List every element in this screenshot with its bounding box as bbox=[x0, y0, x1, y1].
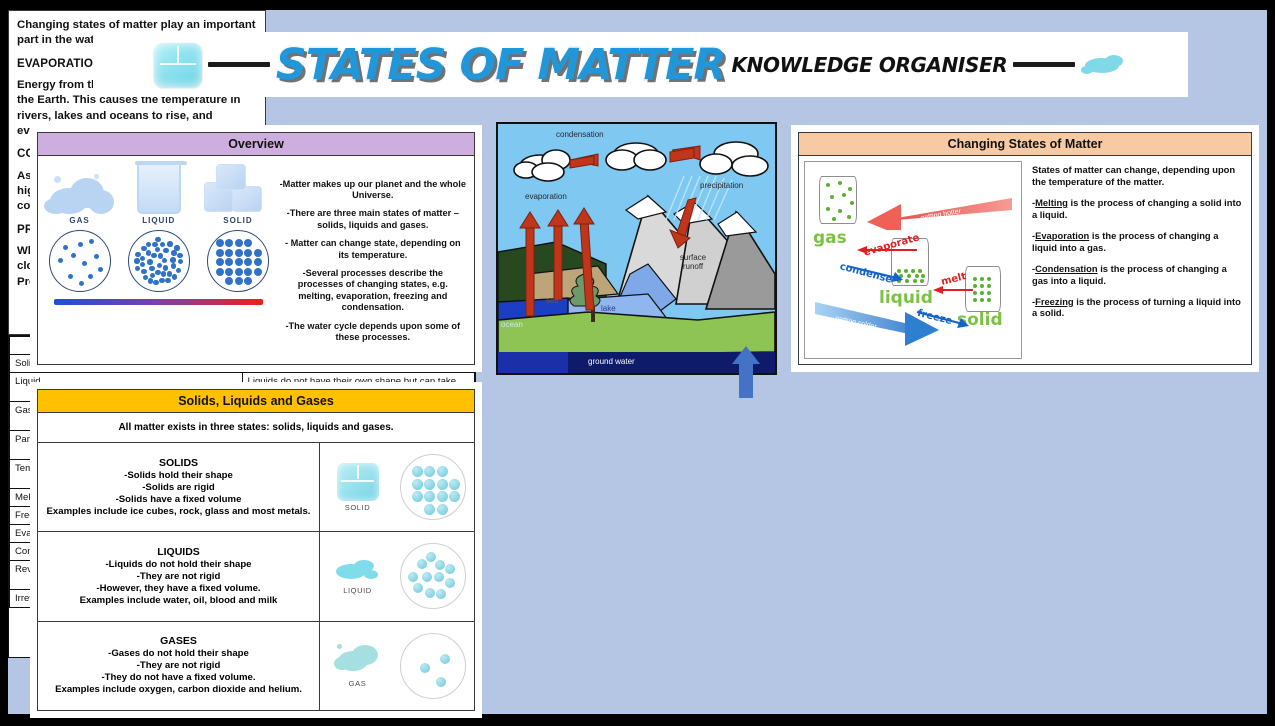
changing-states-header: Changing States of Matter bbox=[799, 133, 1251, 156]
slg-icon-label-solid: SOLID bbox=[345, 503, 371, 512]
slg-line: -Gases do not hold their shape bbox=[108, 648, 249, 660]
slg-line: -Liquids do not hold their shape bbox=[105, 559, 251, 571]
slg-line: -Solids hold their shape bbox=[124, 470, 233, 482]
water-puddle-small-icon bbox=[334, 558, 382, 584]
slg-icons-liquids: LIQUID bbox=[320, 532, 474, 620]
state-label-liquid: LIQUID bbox=[142, 216, 175, 225]
slg-line: -Solids are rigid bbox=[142, 482, 215, 494]
changing-states-diagram: gas liquid solid bbox=[804, 161, 1022, 359]
particle-circle-gas-small bbox=[400, 633, 466, 699]
slg-row-solids: SOLIDS -Solids hold their shape -Solids … bbox=[38, 443, 474, 532]
wc-label-lake: lake bbox=[601, 304, 616, 313]
particles-liquid bbox=[120, 230, 198, 292]
slg-line: -They are not rigid bbox=[137, 571, 221, 583]
cs-paragraph-4: -Condensation is the process of changing… bbox=[1032, 263, 1244, 287]
overview-panel: Overview GAS LIQUID bbox=[30, 125, 482, 372]
slg-icons-gases: GAS bbox=[320, 622, 474, 710]
slg-icon-solid: SOLID bbox=[329, 463, 387, 512]
overview-bullet-4: -Several processes describe the processe… bbox=[280, 268, 466, 314]
state-label-solid: SOLID bbox=[223, 216, 252, 225]
wc-label-evaporation: evaporation bbox=[525, 192, 567, 201]
slg-intro: All matter exists in three states: solid… bbox=[38, 413, 474, 443]
ice-cubes-icon bbox=[202, 164, 274, 214]
wc-label-soil: soil bbox=[546, 296, 558, 305]
beaker-icon bbox=[137, 164, 181, 214]
particle-circle-liquid bbox=[128, 230, 190, 292]
water-cycle-diagram: condensation precipitation evaporation s… bbox=[496, 122, 777, 375]
overview-bullet-5: -The water cycle depends upon some of th… bbox=[280, 321, 466, 344]
particle-diagram-row bbox=[40, 230, 278, 292]
slg-row-liquids: LIQUIDS -Liquids do not hold their shape… bbox=[38, 532, 474, 621]
particles-gas bbox=[40, 230, 118, 292]
overview-bullet-3: - Matter can change state, depending on … bbox=[280, 238, 466, 261]
slg-title-liquids: LIQUIDS bbox=[157, 546, 200, 558]
state-liquid: LIQUID bbox=[120, 164, 198, 225]
title-dash-left bbox=[208, 62, 270, 67]
wc-label-precipitation: precipitation bbox=[700, 181, 743, 190]
overview-bullet-2: -There are three main states of matter –… bbox=[280, 208, 466, 231]
particle-circle-liquid-small bbox=[400, 543, 466, 609]
cs-paragraph-2: -Melting is the process of changing a so… bbox=[1032, 197, 1244, 221]
page-subtitle: KNOWLEDGE ORGANISER bbox=[732, 53, 1008, 77]
slg-header: Solids, Liquids and Gases bbox=[38, 390, 474, 413]
cs-paragraph-5: -Freezing is the process of turning a li… bbox=[1032, 296, 1244, 320]
slg-line: Examples include water, oil, blood and m… bbox=[80, 595, 278, 607]
slg-icon-gas: GAS bbox=[329, 643, 387, 688]
slg-icon-liquid: LIQUID bbox=[329, 558, 387, 595]
cs-paragraph-1: States of matter can change, depending u… bbox=[1032, 164, 1244, 188]
overview-header: Overview bbox=[38, 133, 474, 156]
slg-icons-solids: SOLID bbox=[320, 443, 474, 531]
overview-text: -Matter makes up our planet and the whol… bbox=[278, 160, 472, 362]
water-puddle-icon bbox=[1081, 54, 1127, 76]
slg-line: -Solids have a fixed volume bbox=[116, 494, 242, 506]
changing-states-text: States of matter can change, depending u… bbox=[1028, 161, 1246, 359]
slg-title-gases: GASES bbox=[160, 635, 197, 647]
state-label-gas: GAS bbox=[69, 216, 89, 225]
poster-canvas: STATES OF MATTER KNOWLEDGE ORGANISER Ove… bbox=[8, 10, 1267, 714]
state-illustration-row: GAS LIQUID SOLID bbox=[40, 164, 278, 225]
temperature-gradient-bar bbox=[54, 299, 263, 305]
particle-circle-solid bbox=[207, 230, 269, 292]
title-dash-right bbox=[1013, 62, 1075, 67]
slg-line: -They do not have a fixed volume. bbox=[101, 672, 255, 684]
slg-line: -They are not rigid bbox=[137, 660, 221, 672]
changing-states-panel: Changing States of Matter gas bbox=[791, 125, 1259, 372]
particles-solid bbox=[199, 230, 277, 292]
slg-text-gases: GASES -Gases do not hold their shape -Th… bbox=[38, 622, 320, 710]
slg-icon-label-liquid: LIQUID bbox=[343, 586, 372, 595]
blue-up-arrow bbox=[732, 346, 760, 398]
solids-liquids-gases-panel: Solids, Liquids and Gases All matter exi… bbox=[30, 382, 482, 718]
state-solid: SOLID bbox=[199, 164, 277, 225]
state-gas: GAS bbox=[40, 172, 118, 225]
particle-circle-gas bbox=[49, 230, 111, 292]
title-bar: STATES OF MATTER KNOWLEDGE ORGANISER bbox=[93, 32, 1188, 97]
wc-label-condensation: condensation bbox=[556, 130, 604, 139]
slg-title-solids: SOLIDS bbox=[159, 457, 198, 469]
page-title: STATES OF MATTER bbox=[276, 40, 726, 90]
overview-bullet-1: -Matter makes up our planet and the whol… bbox=[280, 179, 466, 202]
ice-cube-icon bbox=[154, 43, 202, 87]
overview-figure: GAS LIQUID SOLID bbox=[40, 160, 278, 362]
water-cycle-scene bbox=[498, 124, 775, 373]
wc-label-ocean: ocean bbox=[501, 320, 523, 329]
cs-paragraph-3: -Evaporation is the process of changing … bbox=[1032, 230, 1244, 254]
cloud-icon bbox=[44, 172, 116, 214]
slg-line: Examples include oxygen, carbon dioxide … bbox=[55, 684, 302, 696]
gas-cloud-small-icon bbox=[334, 643, 382, 677]
slg-line: Examples include ice cubes, rock, glass … bbox=[47, 506, 311, 518]
slg-text-liquids: LIQUIDS -Liquids do not hold their shape… bbox=[38, 532, 320, 620]
slg-icon-label-gas: GAS bbox=[349, 679, 367, 688]
slg-row-gases: GASES -Gases do not hold their shape -Th… bbox=[38, 622, 474, 710]
wc-label-surface-runoff: surfacerunoff bbox=[673, 254, 713, 272]
particle-circle-solid-small bbox=[400, 454, 466, 520]
slg-text-solids: SOLIDS -Solids hold their shape -Solids … bbox=[38, 443, 320, 531]
poster-frame: STATES OF MATTER KNOWLEDGE ORGANISER Ove… bbox=[0, 0, 1275, 726]
slg-line: -However, they have a fixed volume. bbox=[96, 583, 260, 595]
ice-cube-small-icon bbox=[337, 463, 379, 501]
wc-label-ground-water: ground water bbox=[588, 357, 635, 366]
